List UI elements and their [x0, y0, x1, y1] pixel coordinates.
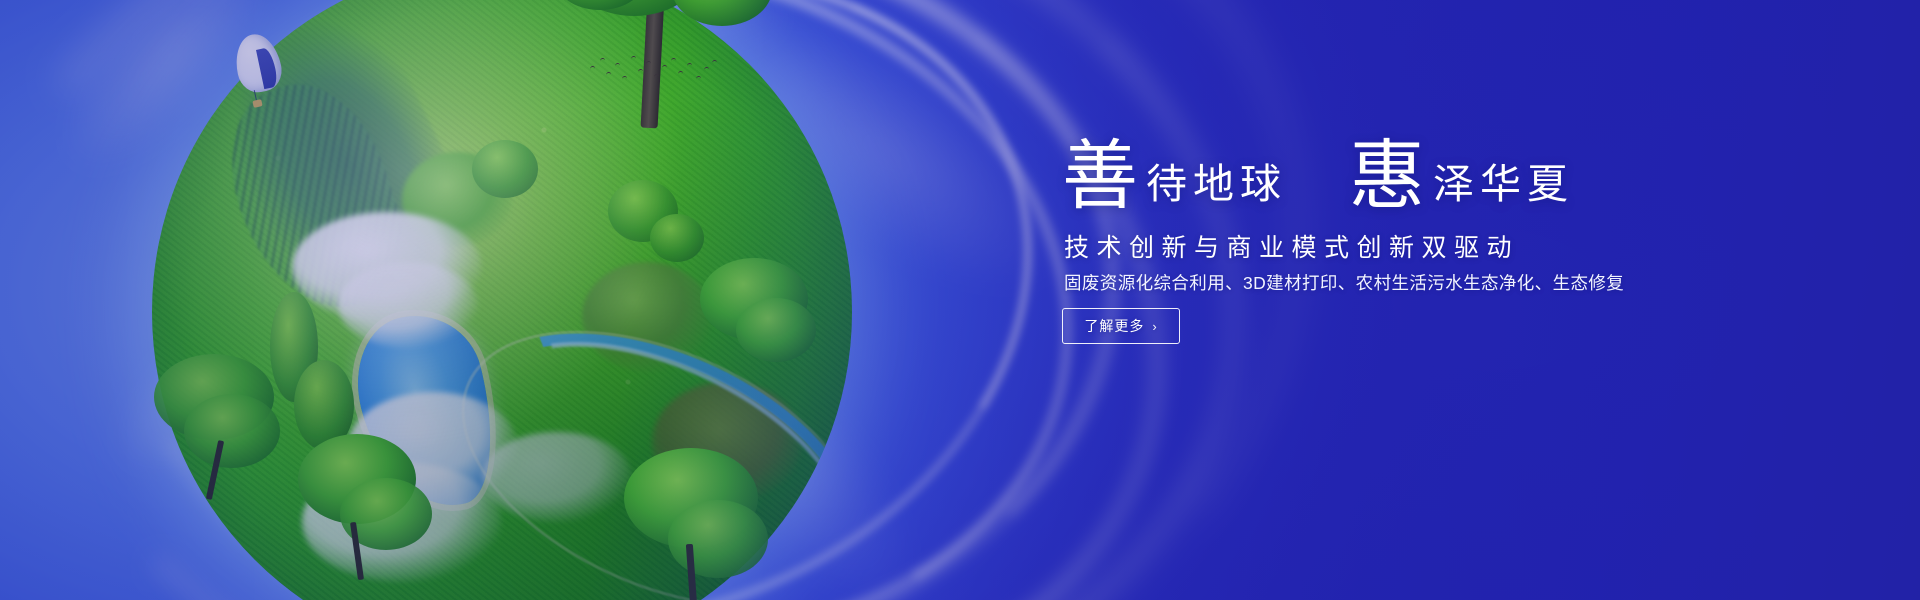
headline-char-primary-2: 惠	[1349, 142, 1425, 213]
chevron-right-icon: ›	[1152, 320, 1157, 333]
page-title: 善 待地球 惠 泽华夏	[1062, 142, 1574, 213]
headline-char-primary-1: 善	[1062, 142, 1138, 213]
hero-banner: 善 待地球 惠 泽华夏 技术创新与商业模式创新双驱动 固废资源化综合利用、3D建…	[0, 0, 1920, 600]
subtitle: 技术创新与商业模式创新双驱动	[1064, 228, 1519, 264]
learn-more-button[interactable]: 了解更多 ›	[1062, 308, 1180, 344]
learn-more-label: 了解更多	[1084, 316, 1144, 336]
hero-copy: 善 待地球 惠 泽华夏 技术创新与商业模式创新双驱动 固废资源化综合利用、3D建…	[1062, 0, 1782, 600]
headline-text-2: 泽华夏	[1433, 164, 1574, 213]
headline-text-1: 待地球	[1146, 164, 1287, 213]
tagline: 固废资源化综合利用、3D建材打印、农村生活污水生态净化、生态修复	[1064, 270, 1624, 295]
